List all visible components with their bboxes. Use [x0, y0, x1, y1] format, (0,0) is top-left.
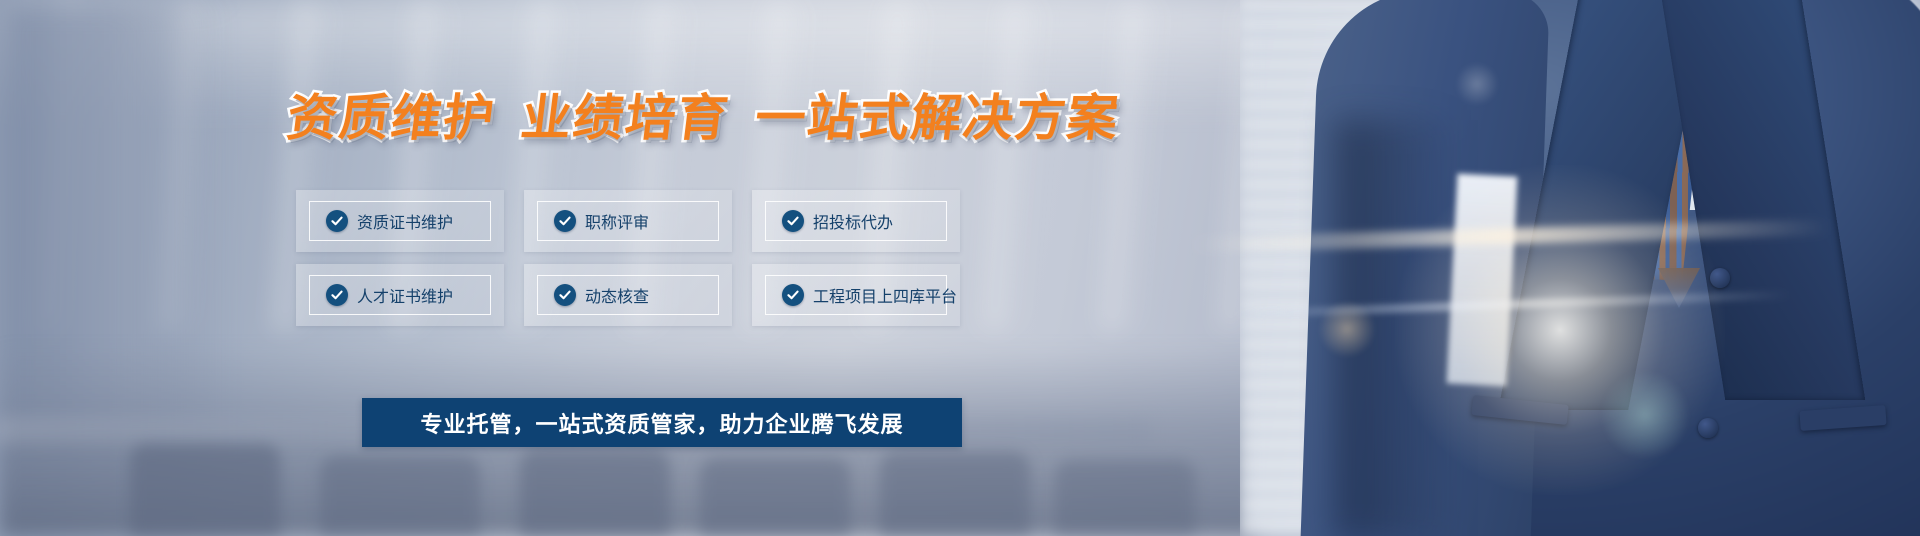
- headline-part-1: 资质维护: [284, 89, 499, 147]
- feature-card-label: 职称评审: [585, 209, 649, 233]
- check-circle-icon: [326, 284, 348, 306]
- feature-card-row: 资质证书维护 职称评审 招投: [296, 190, 960, 252]
- headline-part-3: 一站式解决方案: [752, 89, 1123, 147]
- feature-card-inner: 人才证书维护: [309, 275, 491, 315]
- check-circle-icon: [554, 210, 576, 232]
- feature-card[interactable]: 动态核查: [524, 264, 732, 326]
- promo-banner: 资质维护业绩培育一站式解决方案 资质证书维护: [0, 0, 1920, 536]
- check-circle-icon: [554, 284, 576, 306]
- headline-part-2: 业绩培育: [518, 89, 733, 147]
- feature-card[interactable]: 职称评审: [524, 190, 732, 252]
- feature-card[interactable]: 工程项目上四库平台: [752, 264, 960, 326]
- check-circle-icon: [782, 284, 804, 306]
- feature-card[interactable]: 招投标代办: [752, 190, 960, 252]
- feature-card-inner: 招投标代办: [765, 201, 947, 241]
- check-circle-icon: [326, 210, 348, 232]
- tagline-text: 专业托管，一站式资质管家，助力企业腾飞发展: [420, 407, 903, 439]
- feature-card-label: 动态核查: [585, 283, 649, 307]
- feature-card-inner: 职称评审: [537, 201, 719, 241]
- headline: 资质维护业绩培育一站式解决方案: [284, 78, 1125, 150]
- feature-card[interactable]: 人才证书维护: [296, 264, 504, 326]
- feature-card[interactable]: 资质证书维护: [296, 190, 504, 252]
- feature-card-inner: 资质证书维护: [309, 201, 491, 241]
- feature-card-label: 资质证书维护: [357, 209, 453, 233]
- feature-card-inner: 动态核查: [537, 275, 719, 315]
- feature-card-row: 人才证书维护 动态核查 工程: [296, 264, 960, 326]
- banner-content: 资质维护业绩培育一站式解决方案 资质证书维护: [0, 0, 1920, 536]
- feature-card-label: 招投标代办: [813, 209, 893, 233]
- feature-card-label: 工程项目上四库平台: [813, 283, 957, 307]
- feature-card-label: 人才证书维护: [357, 283, 453, 307]
- check-circle-icon: [782, 210, 804, 232]
- feature-card-grid: 资质证书维护 职称评审 招投: [296, 190, 960, 338]
- tagline-bar: 专业托管，一站式资质管家，助力企业腾飞发展: [362, 398, 962, 447]
- feature-card-inner: 工程项目上四库平台: [765, 275, 947, 315]
